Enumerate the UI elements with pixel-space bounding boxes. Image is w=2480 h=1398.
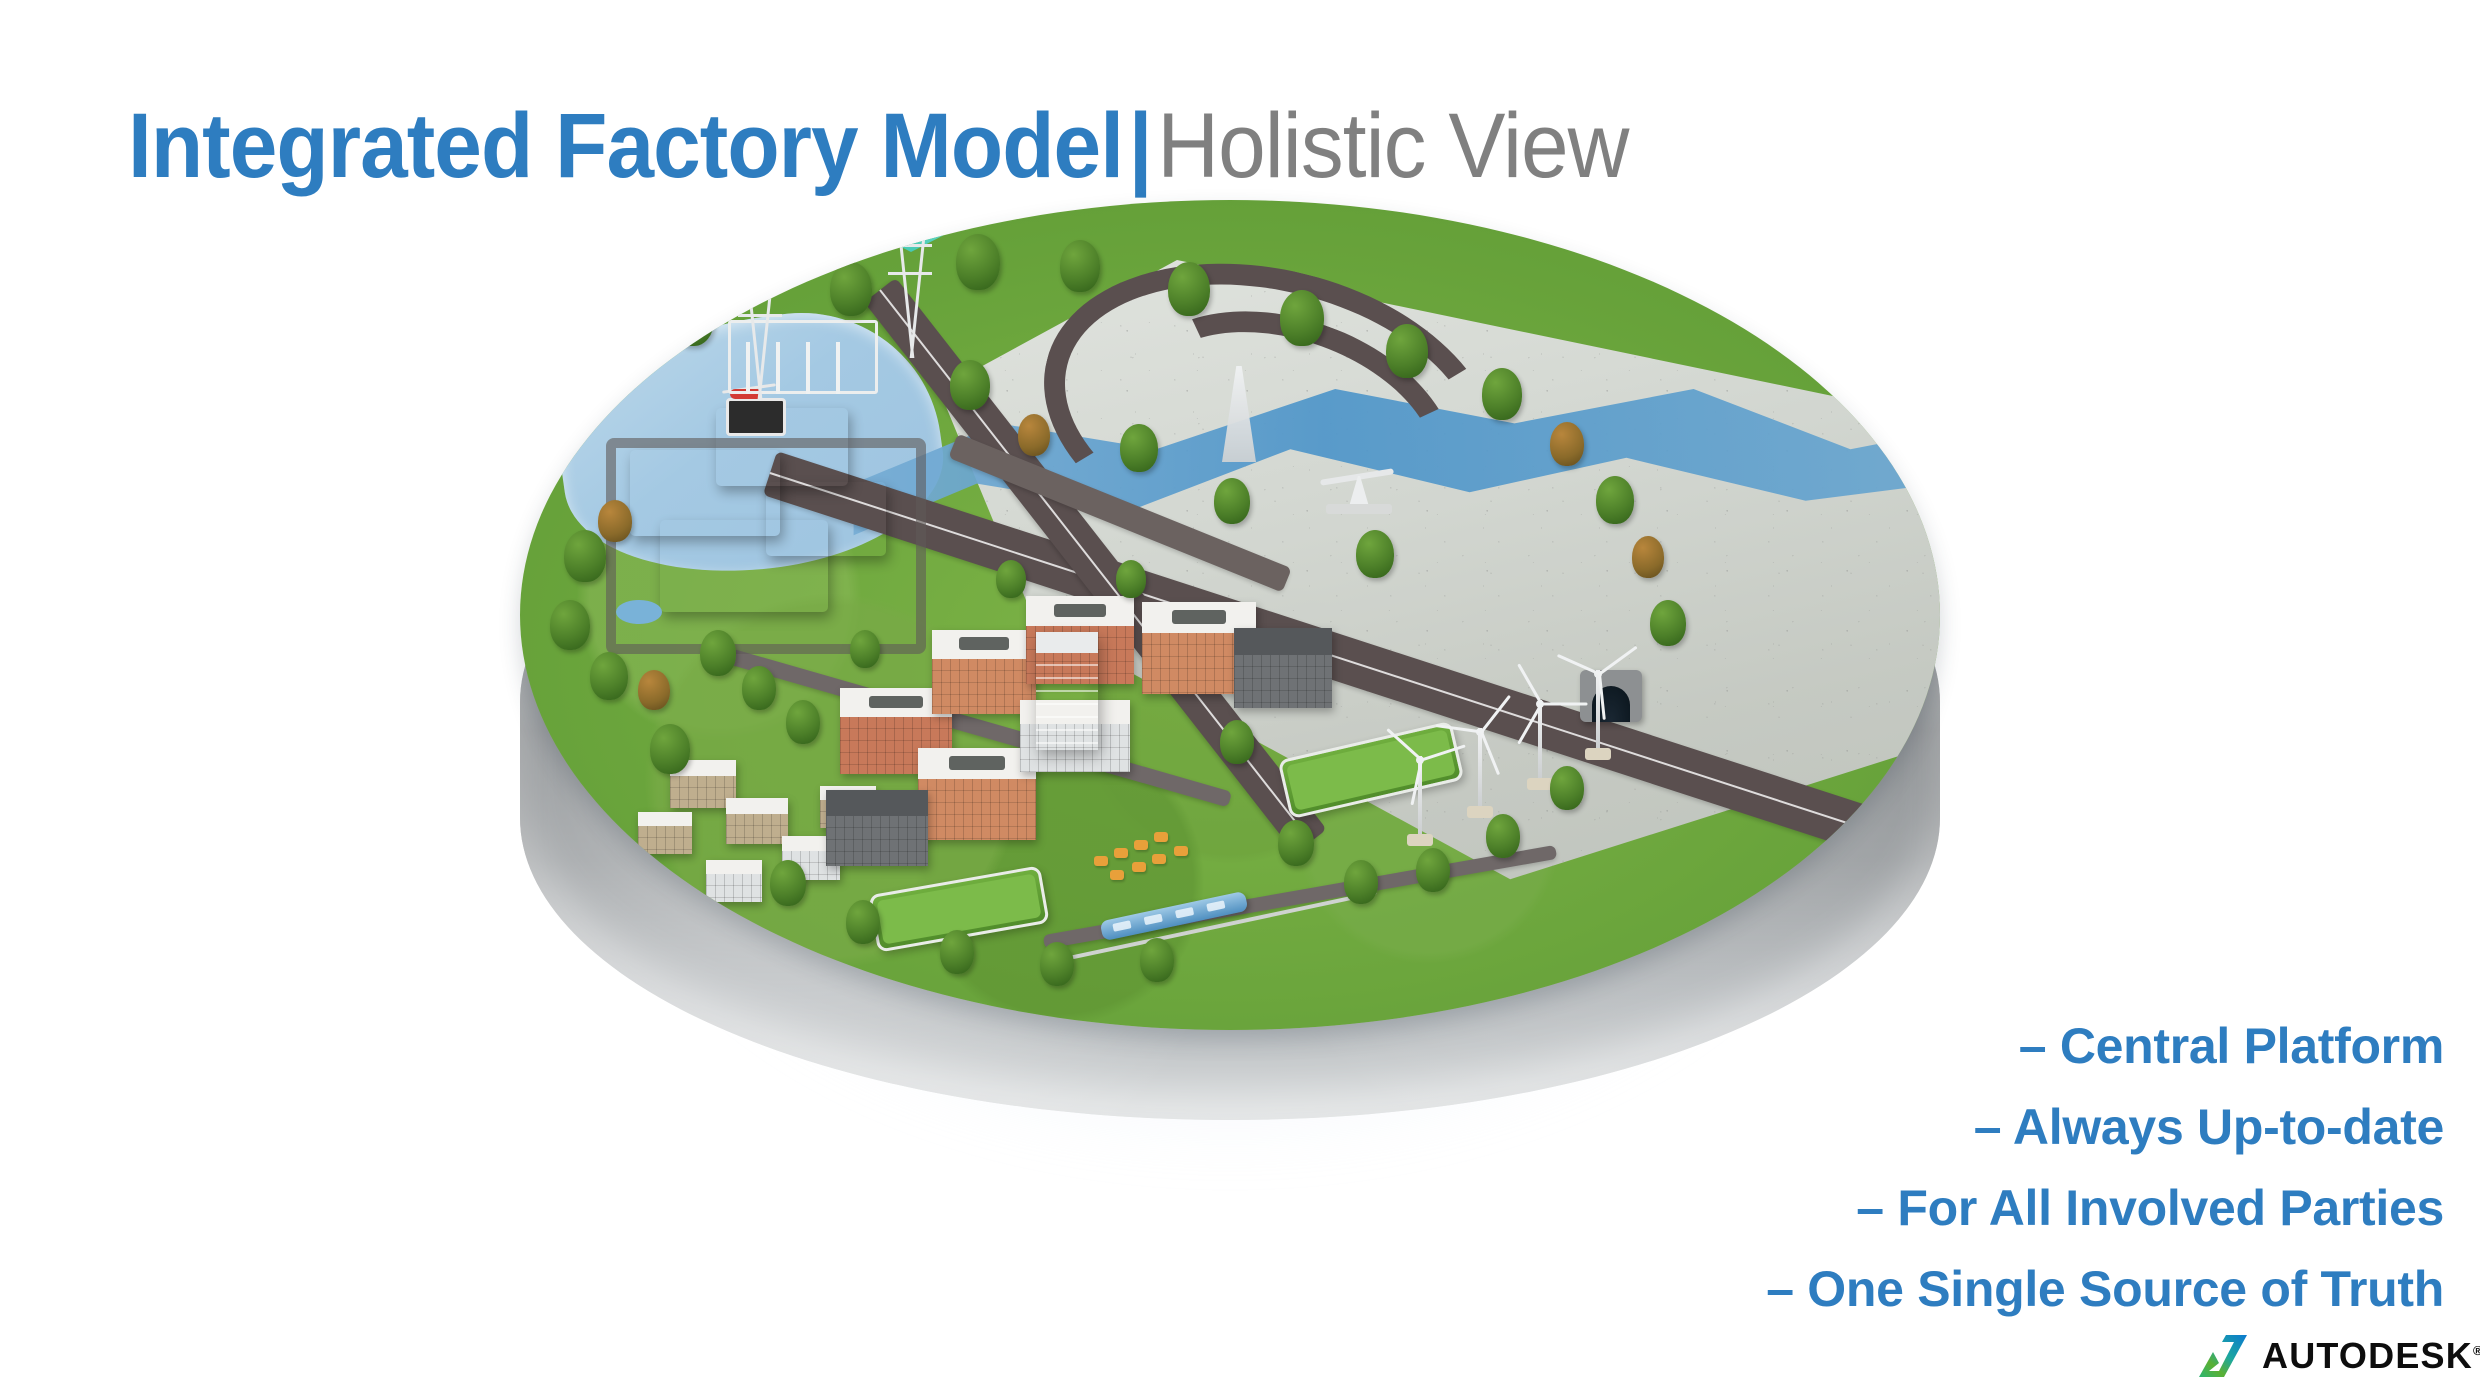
- tree: [1040, 942, 1074, 986]
- tree: [1116, 560, 1146, 598]
- tree: [638, 670, 670, 710]
- tree: [1386, 324, 1428, 378]
- tree: [590, 652, 628, 700]
- canopy: [1094, 856, 1108, 866]
- tree: [1220, 720, 1254, 764]
- building-roof: [826, 790, 928, 816]
- canopy: [1134, 840, 1148, 850]
- wind-turbine: [1460, 728, 1500, 812]
- roof-unit: [1054, 604, 1106, 617]
- hospital-parking-lot: [606, 438, 926, 654]
- tree: [1214, 478, 1250, 524]
- apartment-block: [826, 790, 928, 866]
- tree: [850, 630, 880, 668]
- canopy: [1114, 848, 1128, 858]
- tram-window: [1112, 920, 1131, 932]
- tree: [1550, 422, 1584, 466]
- tree: [1018, 414, 1050, 456]
- transmission-pylon: [902, 218, 922, 358]
- building-face: [1234, 655, 1332, 708]
- tower-roof: [1036, 632, 1098, 653]
- pylon-arm: [888, 244, 932, 247]
- tree: [1356, 530, 1394, 578]
- house: [726, 798, 788, 844]
- registered-mark: ®: [2473, 1343, 2480, 1358]
- tree: [650, 724, 690, 774]
- building-roof: [932, 630, 1036, 659]
- pylon-arm: [738, 314, 782, 317]
- office-tower: [1036, 632, 1098, 750]
- tree: [1140, 938, 1174, 982]
- tree: [786, 700, 820, 744]
- turbine-base: [1467, 806, 1493, 818]
- substation-post: [776, 342, 780, 394]
- building-face: [826, 816, 928, 866]
- canopy: [1174, 846, 1188, 856]
- house-face: [726, 814, 788, 844]
- tree: [742, 666, 776, 710]
- pylon-arm: [888, 272, 932, 275]
- disc-top-surface: [520, 200, 1940, 1030]
- house: [638, 812, 692, 854]
- list-item: – One Single Source of Truth: [1766, 1249, 2444, 1330]
- apartment-block: [1234, 628, 1332, 708]
- wind-turbine: [1520, 700, 1560, 784]
- substation-post: [806, 342, 810, 394]
- house-roof: [726, 798, 788, 814]
- tree: [846, 900, 880, 944]
- roof-unit: [1172, 610, 1227, 624]
- tree: [670, 290, 714, 346]
- wind-turbine: [1578, 670, 1618, 754]
- market-canopies: [1094, 832, 1224, 892]
- tree: [598, 500, 632, 542]
- turbine-blade: [1480, 731, 1500, 775]
- house-roof: [638, 812, 692, 826]
- pump-jack: [1320, 468, 1398, 510]
- substation-post: [746, 342, 750, 394]
- list-item: – For All Involved Parties: [1766, 1168, 2444, 1249]
- list-item: – Always Up-to-date: [1766, 1087, 2444, 1168]
- house-roof: [706, 860, 762, 874]
- electrical-substation: [728, 320, 878, 394]
- benefits-list: – Central Platform – Always Up-to-date –…: [1766, 1006, 2444, 1330]
- tree: [1632, 536, 1664, 578]
- roof-unit: [959, 637, 1009, 650]
- tree: [940, 930, 974, 974]
- canopy: [1152, 854, 1166, 864]
- tree: [1550, 766, 1584, 810]
- hospital-pond: [616, 600, 662, 624]
- turbine-base: [1407, 834, 1433, 846]
- wind-turbine: [1400, 756, 1440, 840]
- tree: [1596, 476, 1634, 524]
- roof-unit: [949, 756, 1006, 770]
- tree: [1120, 424, 1158, 472]
- substation-frame: [728, 320, 878, 394]
- site-disc: [520, 170, 1940, 1170]
- autodesk-wordmark-text: AUTODESK: [2262, 1335, 2473, 1376]
- building-roof: [918, 748, 1036, 779]
- tree: [700, 630, 736, 676]
- tree: [1482, 368, 1522, 420]
- tree: [1486, 814, 1520, 858]
- list-item: – Central Platform: [1766, 1006, 2444, 1087]
- tree: [956, 234, 1000, 290]
- turbine-mast: [1478, 728, 1482, 812]
- transmission-pylon: [752, 296, 768, 400]
- canopy: [1110, 870, 1124, 880]
- tree: [1344, 860, 1378, 904]
- tram-window: [1144, 914, 1163, 926]
- tree: [1280, 290, 1324, 346]
- roof-unit: [869, 696, 923, 709]
- tree: [1168, 262, 1210, 316]
- tree: [770, 860, 806, 906]
- turbine-base: [1585, 748, 1611, 760]
- building-roof: [1026, 596, 1134, 626]
- tree: [950, 360, 990, 410]
- tram-window: [1206, 900, 1225, 912]
- apartment-block: [918, 748, 1036, 840]
- tram-window: [1175, 907, 1194, 919]
- tree: [550, 600, 590, 650]
- helipad: [726, 398, 786, 436]
- tower-face: [1036, 653, 1098, 750]
- autodesk-wordmark: AUTODESK®: [2262, 1338, 2480, 1374]
- tree: [830, 262, 872, 316]
- canopy: [1132, 862, 1146, 872]
- autodesk-a-mark-icon: [2196, 1333, 2248, 1379]
- house-face: [638, 826, 692, 854]
- pumpjack-pad: [1326, 504, 1392, 514]
- house-face: [706, 874, 762, 902]
- house: [706, 860, 762, 902]
- tree: [1650, 600, 1686, 646]
- tree: [1416, 848, 1450, 892]
- building-roof: [1234, 628, 1332, 655]
- canopy: [1154, 832, 1168, 842]
- tree: [1278, 820, 1314, 866]
- autodesk-logo: AUTODESK®: [2196, 1330, 2458, 1382]
- substation-post: [836, 342, 840, 394]
- tree: [996, 560, 1026, 598]
- turbine-mast: [1538, 700, 1542, 784]
- building-face: [918, 779, 1036, 840]
- integrated-factory-model-illustration: [520, 170, 1940, 1280]
- tree: [1060, 240, 1100, 292]
- tree: [564, 530, 606, 582]
